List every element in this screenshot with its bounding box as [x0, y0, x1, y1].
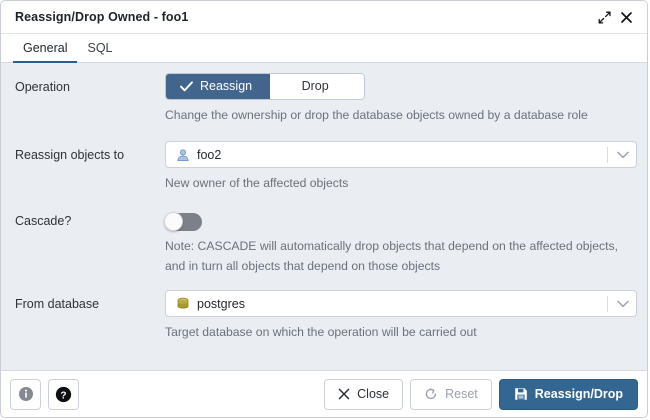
close-button-label: Close: [357, 387, 389, 401]
close-icon[interactable]: [615, 6, 637, 28]
submit-reassign-drop-button[interactable]: Reassign/Drop: [499, 379, 638, 410]
tab-sql[interactable]: SQL: [77, 34, 122, 62]
operation-option-reassign-label: Reassign: [200, 79, 252, 93]
reassign-to-label: Reassign objects to: [15, 141, 165, 163]
info-button[interactable]: [10, 379, 41, 410]
check-icon: [180, 81, 193, 92]
operation-option-reassign[interactable]: Reassign: [166, 74, 270, 99]
reassign-to-control: foo2 New owner of the affected objects: [165, 141, 637, 193]
reassign-to-value-wrap: foo2: [176, 148, 607, 162]
dialog-body: Operation Reassign Drop: [1, 63, 647, 370]
cascade-help-text: Note: CASCADE will automatically drop ob…: [165, 236, 635, 276]
cascade-row: Cascade? Note: CASCADE will automaticall…: [15, 207, 637, 276]
from-database-value-wrap: postgres: [176, 297, 607, 311]
operation-option-drop[interactable]: Drop: [270, 74, 364, 99]
operation-help-text: Change the ownership or drop the databas…: [165, 105, 635, 125]
chevron-down-icon[interactable]: [610, 151, 636, 159]
operation-label: Operation: [15, 73, 165, 95]
dialog-titlebar: Reassign/Drop Owned - foo1: [1, 1, 647, 34]
dialog-title: Reassign/Drop Owned - foo1: [15, 10, 593, 24]
dialog-footer: ? Close Reset Reassign: [1, 370, 647, 417]
operation-segmented-control: Reassign Drop: [165, 73, 365, 100]
tab-sql-label: SQL: [87, 41, 112, 55]
reassign-drop-owned-dialog: Reassign/Drop Owned - foo1 General SQL O…: [0, 0, 648, 418]
reassign-to-help-text: New owner of the affected objects: [165, 173, 635, 193]
operation-row: Operation Reassign Drop: [15, 73, 637, 125]
svg-text:?: ?: [60, 390, 66, 401]
help-button[interactable]: ?: [48, 379, 79, 410]
database-icon: [176, 297, 190, 311]
reset-icon: [424, 387, 438, 401]
close-icon: [338, 388, 350, 400]
expand-diagonal-icon[interactable]: [593, 6, 615, 28]
cascade-toggle-knob: [164, 212, 183, 231]
save-icon: [514, 387, 528, 401]
reassign-to-row: Reassign objects to foo2: [15, 141, 637, 193]
from-database-label: From database: [15, 290, 165, 312]
from-database-help-text: Target database on which the operation w…: [165, 322, 635, 342]
cascade-control: Note: CASCADE will automatically drop ob…: [165, 207, 637, 276]
reset-button[interactable]: Reset: [410, 379, 492, 410]
select-separator: [607, 147, 608, 163]
chevron-down-icon[interactable]: [610, 300, 636, 308]
operation-control: Reassign Drop Change the ownership or dr…: [165, 73, 637, 125]
dialog-tabs: General SQL: [1, 34, 647, 63]
close-button[interactable]: Close: [324, 379, 403, 410]
help-icon: ?: [55, 386, 72, 403]
tab-general[interactable]: General: [13, 34, 77, 62]
from-database-row: From database postgres: [15, 290, 637, 342]
cascade-toggle[interactable]: [165, 213, 202, 231]
cascade-label: Cascade?: [15, 207, 165, 229]
role-user-icon: [176, 148, 190, 162]
info-icon: [18, 386, 34, 402]
from-database-value: postgres: [197, 297, 245, 311]
from-database-control: postgres Target database on which the op…: [165, 290, 637, 342]
operation-option-drop-label: Drop: [302, 79, 329, 93]
reassign-to-value: foo2: [197, 148, 221, 162]
from-database-select[interactable]: postgres: [165, 290, 637, 317]
reset-button-label: Reset: [445, 387, 478, 401]
tab-general-label: General: [23, 41, 67, 55]
select-separator: [607, 296, 608, 312]
submit-button-label: Reassign/Drop: [535, 387, 623, 401]
reassign-to-select[interactable]: foo2: [165, 141, 637, 168]
